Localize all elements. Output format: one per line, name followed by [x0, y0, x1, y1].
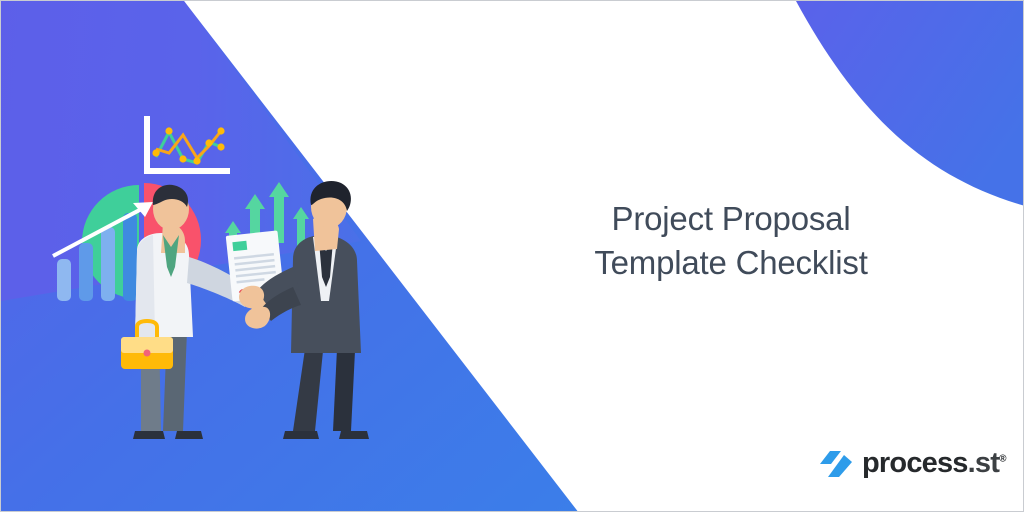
right-shoe-front [339, 431, 369, 439]
left-shoe-front [175, 431, 203, 439]
line-chart-series-green [156, 132, 221, 163]
page-title-line-1: Project Proposal [521, 197, 941, 241]
banner-image: Project Proposal Template Checklist proc… [0, 0, 1024, 512]
bar-2 [79, 243, 93, 301]
logo-trademark: ® [999, 453, 1006, 464]
right-hand-lower [245, 307, 270, 329]
bar-4 [123, 213, 137, 301]
right-leg-back [293, 349, 323, 431]
left-shoe-back [133, 431, 165, 439]
process-st-logo-text: process.st® [862, 447, 1006, 480]
right-leg-front [333, 349, 355, 431]
page-title-line-2: Template Checklist [521, 241, 941, 285]
line-chart-graphic [147, 119, 227, 171]
right-shoe-back [283, 431, 319, 439]
illustration [41, 101, 381, 441]
logo-name: process [862, 447, 968, 479]
process-st-logo-icon [819, 449, 853, 479]
document-logo [232, 241, 247, 251]
process-st-logo[interactable]: process.st® [819, 447, 1006, 480]
page-title: Project Proposal Template Checklist [521, 197, 941, 285]
briefcase-clasp [144, 350, 151, 357]
bar-1 [57, 259, 71, 301]
logo-suffix: .st [968, 447, 999, 479]
bar-3 [101, 227, 115, 301]
